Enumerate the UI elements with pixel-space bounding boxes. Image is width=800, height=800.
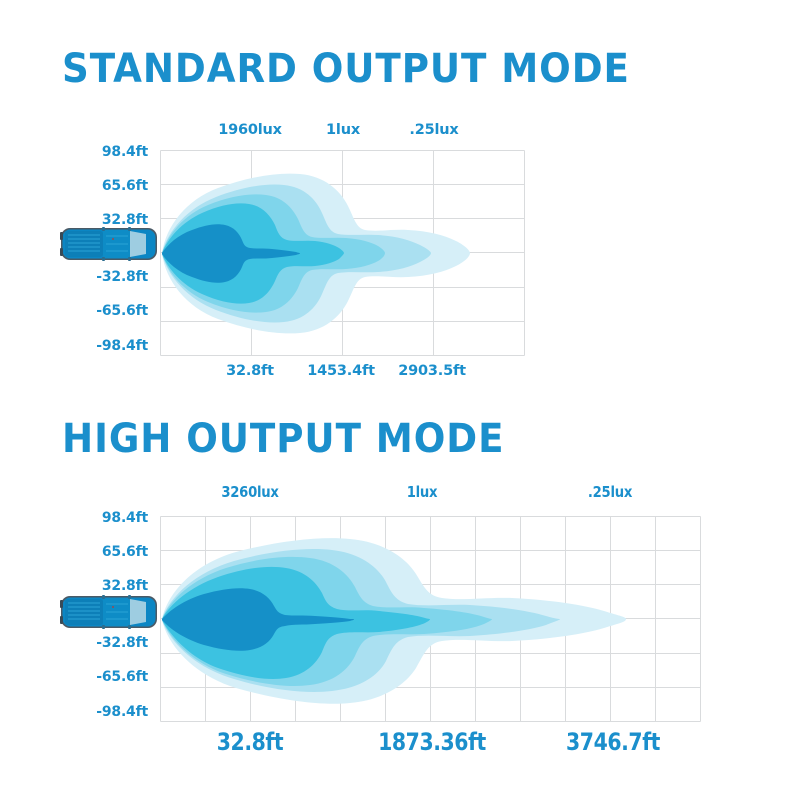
x-axis-label-standard-1: 1453.4ft (307, 363, 375, 379)
chart-high-output-mode: 3260lux 1lux .25lux 98.4ft 65.6ft 32.8ft… (0, 470, 800, 760)
x-axis-label-high-2: 3746.7ft (566, 728, 660, 756)
lux-label-high-2: .25lux (588, 483, 632, 501)
beam-plot-svg-standard (160, 150, 526, 358)
plot-area-standard (160, 150, 526, 358)
y-axis-label-high-4: -65.6ft (48, 669, 148, 685)
lux-label-standard-1: 1lux (326, 122, 360, 138)
page-title-standard-output-mode: STANDARD OUTPUT MODE (62, 46, 630, 92)
lux-label-standard-2: .25lux (409, 122, 458, 138)
y-axis-label-standard-4: -65.6ft (48, 303, 148, 319)
lux-label-high-1: 1lux (407, 483, 438, 501)
beam-contours-standard (162, 174, 470, 334)
x-axis-label-high-0: 32.8ft (217, 728, 283, 756)
pickup-truck-top-view-icon (58, 590, 162, 634)
y-axis-label-high-1: 65.6ft (48, 544, 148, 560)
beam-pattern-infographic: STANDARD OUTPUT MODE 1960lux 1lux .25lux… (0, 0, 800, 800)
beam-plot-svg-high (160, 516, 702, 724)
beam-contours-high (162, 538, 626, 704)
y-axis-label-high-5: -98.4ft (48, 704, 148, 720)
chart-standard-output-mode: 1960lux 1lux .25lux 98.4ft 65.6ft 32.8ft… (0, 110, 800, 390)
page-title-high-output-mode: HIGH OUTPUT MODE (62, 416, 504, 462)
y-axis-label-high-0: 98.4ft (48, 510, 148, 526)
x-axis-label-high-1: 1873.36ft (378, 728, 486, 756)
y-axis-label-standard-0: 98.4ft (48, 144, 148, 160)
vehicle-icon-standard (58, 222, 162, 271)
y-axis-label-standard-1: 65.6ft (48, 178, 148, 194)
plot-area-high (160, 516, 702, 724)
lux-label-standard-0: 1960lux (218, 122, 282, 138)
x-axis-label-standard-2: 2903.5ft (398, 363, 466, 379)
y-axis-label-standard-3: -32.8ft (48, 269, 148, 285)
x-axis-label-standard-0: 32.8ft (226, 363, 274, 379)
pickup-truck-top-view-icon (58, 222, 162, 266)
lux-label-high-0: 3260lux (221, 483, 278, 501)
vehicle-icon-high (58, 590, 162, 639)
y-axis-label-standard-5: -98.4ft (48, 338, 148, 354)
